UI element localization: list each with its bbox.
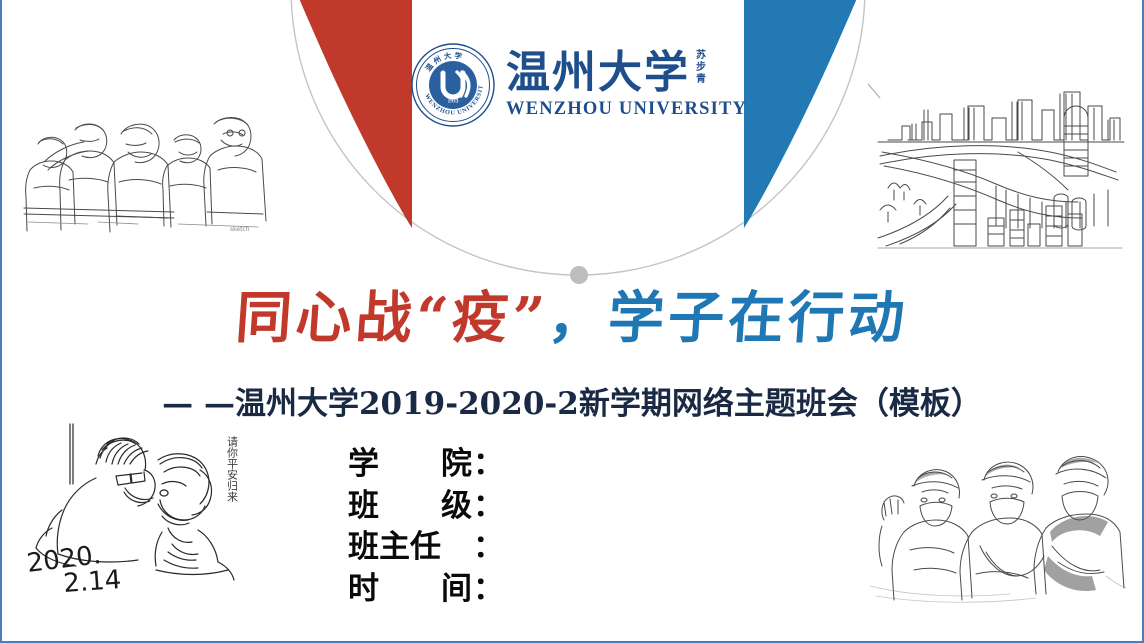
field-label-college: 学 院: [348, 444, 473, 486]
field-row-time[interactable]: 时 间：: [348, 569, 504, 611]
field-row-headteacher[interactable]: 班主任：: [348, 527, 504, 569]
handwritten-date: 2020. 2.14: [25, 540, 122, 595]
blue-petal-shape: [744, 0, 864, 228]
field-row-class[interactable]: 班 级：: [348, 486, 504, 528]
red-petal-shape: [292, 0, 412, 228]
masked-couple-sketch-image: 请你平安归来 2020. 2.14: [12, 420, 267, 595]
svg-text:请你平安归来: 请你平安归来: [226, 436, 239, 502]
calligrapher-seal-mark: 苏步青: [693, 49, 704, 85]
wenzhou-university-seal-icon: 1933 温 州 大 学 WENZHOU UNIVERSITY: [410, 42, 496, 128]
field-colon-college: ：: [473, 446, 504, 482]
field-colon-time: ：: [473, 571, 504, 607]
info-field-list: 学 院： 班 级： 班主任： 时 间：: [348, 444, 504, 610]
page-subtitle: — —温州大学2019-2020-2新学期网络主题班会（模板）: [0, 378, 1144, 423]
city-overpass-sketch-image: [868, 78, 1133, 250]
medical-staff-sketch-image: sketch: [18, 100, 268, 235]
field-label-headteacher: 班主任: [348, 527, 473, 569]
field-label-time: 时 间: [348, 569, 473, 611]
arc-end-dot: [570, 266, 588, 284]
construction-workers-sketch-image: [862, 436, 1130, 604]
svg-text:2.14: 2.14: [62, 565, 122, 595]
field-colon-headteacher: ：: [473, 529, 504, 565]
university-logo: 1933 温 州 大 学 WENZHOU UNIVERSITY 温州大学苏步青 …: [410, 30, 750, 140]
svg-text:sketch: sketch: [230, 226, 250, 233]
title-red-part: 同心战“疫”: [233, 285, 550, 351]
slide-canvas: 1933 温 州 大 学 WENZHOU UNIVERSITY 温州大学苏步青 …: [0, 0, 1144, 643]
logo-name-cn-text: 温州大学: [506, 47, 690, 98]
page-title: 同心战“疫”，学子在行动: [0, 286, 1144, 350]
svg-text:1933: 1933: [448, 99, 459, 105]
handwritten-note-cn: 请你平安归来: [226, 436, 239, 502]
field-row-college[interactable]: 学 院：: [348, 444, 504, 486]
field-label-class: 班 级: [348, 486, 473, 528]
title-blue-part: ，学子在行动: [546, 285, 911, 351]
logo-name-en: WENZHOU UNIVERSITY: [506, 99, 747, 120]
logo-name-cn: 温州大学苏步青: [506, 51, 704, 95]
field-colon-class: ：: [473, 488, 504, 524]
